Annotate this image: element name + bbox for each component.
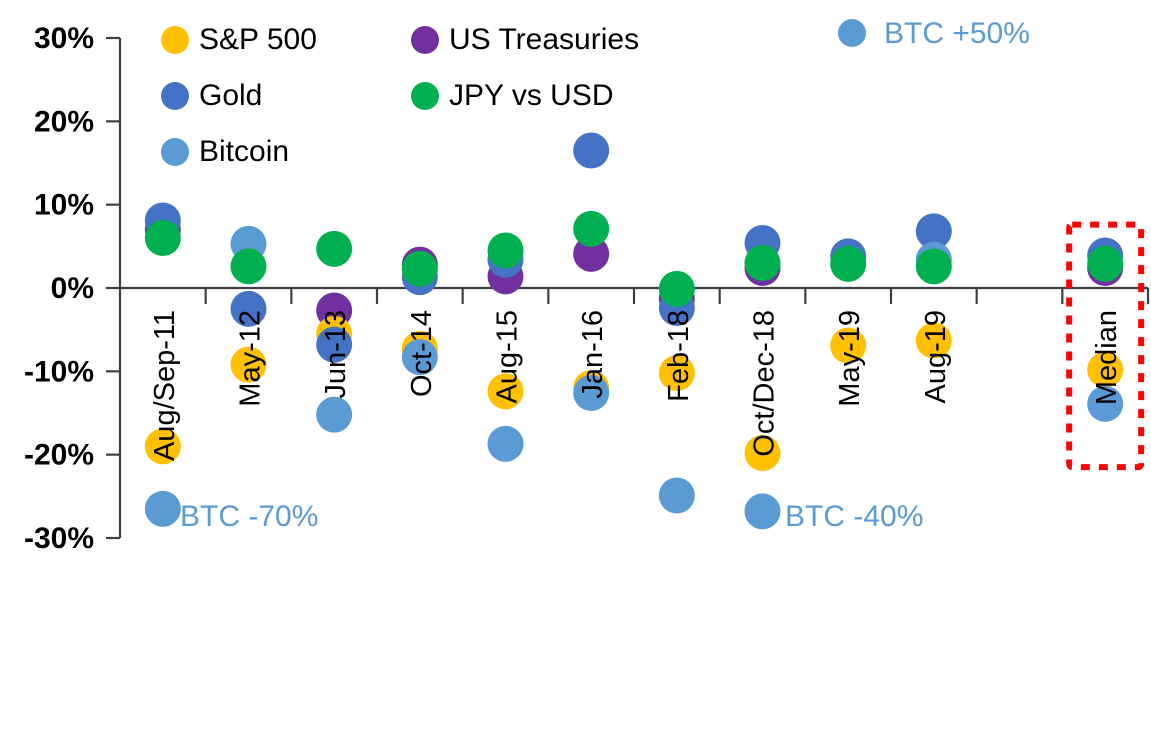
legend: S&P 500GoldBitcoinUS TreasuriesJPY vs US… [161,23,639,168]
legend-label-s-p-500: S&P 500 [199,23,317,56]
y-axis-tick-label: -20% [24,439,94,472]
data-point-bitcoin [145,491,181,527]
data-points [145,133,1123,530]
x-axis-label: May-12 [235,310,267,407]
data-point-jpy-vs-usd [916,248,952,284]
x-axis-label: May-19 [834,310,866,407]
annotation-label-btc-plus-50: BTC +50% [884,17,1030,50]
x-axis-labels: Aug/Sep-11May-12Jun-13Oct-14Aug-15Jan-16… [149,310,1123,461]
x-axis-label: Aug-19 [920,310,952,404]
annotation-marker-btc-plus-50 [838,19,866,47]
legend-marker-us-treasuries [411,26,439,54]
data-point-bitcoin [488,426,524,462]
y-axis-tick-label: -30% [24,522,94,555]
x-axis-label: Feb-18 [663,310,695,402]
chart-canvas: Aug/Sep-11May-12Jun-13Oct-14Aug-15Jan-16… [0,0,1151,739]
legend-label-jpy-vs-usd: JPY vs USD [449,79,614,112]
x-axis-label: Median [1091,310,1123,405]
legend-marker-bitcoin [161,138,189,166]
data-point-jpy-vs-usd [1087,246,1123,282]
data-point-jpy-vs-usd [745,245,781,281]
y-axis-tick-label: 20% [34,105,94,138]
scatter-chart: Aug/Sep-11May-12Jun-13Oct-14Aug-15Jan-16… [0,0,1151,739]
data-point-jpy-vs-usd [488,233,524,269]
x-axis-label: Oct-14 [406,310,438,397]
data-point-jpy-vs-usd [659,271,695,307]
data-point-jpy-vs-usd [830,246,866,282]
x-axis-label: Jun-13 [320,310,352,399]
legend-marker-gold [161,82,189,110]
y-axis-tick-label: -10% [24,355,94,388]
data-point-bitcoin [659,478,695,514]
data-point-jpy-vs-usd [316,231,352,267]
x-axis-label: Aug-15 [492,310,524,404]
x-axis-label: Aug/Sep-11 [149,310,181,461]
y-axis-tick-label: 30% [34,22,94,55]
y-axis-tick-label: 10% [34,189,94,222]
data-point-bitcoin [745,493,781,529]
data-point-jpy-vs-usd [402,251,438,287]
y-axis-labels: 30%20%10%0%-10%-20%-30% [24,22,94,555]
legend-label-us-treasuries: US Treasuries [449,23,639,56]
legend-marker-jpy-vs-usd [411,82,439,110]
data-point-jpy-vs-usd [145,220,181,256]
annotation-label-btc-minus-40: BTC -40% [785,500,923,533]
annotation-label-btc-minus-70: BTC -70% [180,500,318,533]
x-axis-label: Jan-16 [577,310,609,399]
x-axis-label: Oct/Dec-18 [749,310,781,457]
legend-marker-s-p-500 [161,26,189,54]
data-point-bitcoin [316,397,352,433]
data-point-jpy-vs-usd [231,248,267,284]
data-point-gold [573,133,609,169]
data-point-jpy-vs-usd [573,211,609,247]
y-axis-ticks [106,38,120,538]
legend-label-gold: Gold [199,79,262,112]
legend-label-bitcoin: Bitcoin [199,135,289,168]
y-axis-tick-label: 0% [51,272,94,305]
